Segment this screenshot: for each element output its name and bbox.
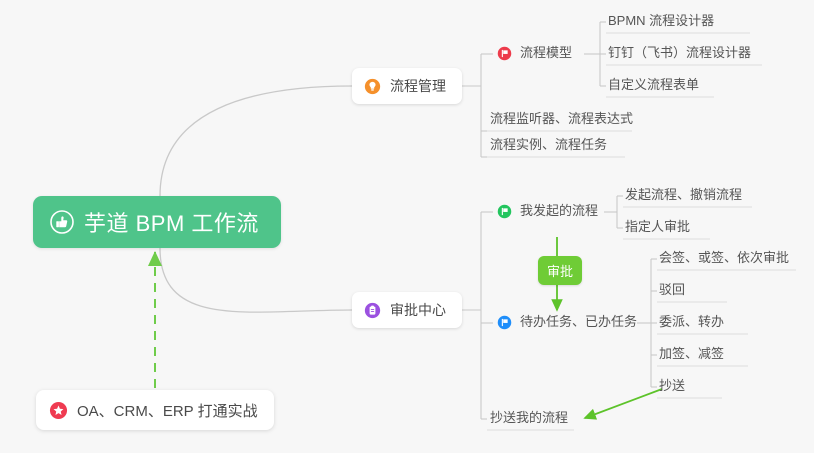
topic-bpmn-designer[interactable]: BPMN 流程设计器 [604,11,718,33]
topic-countersign[interactable]: 会签、或签、依次审批 [655,248,793,270]
topic-todo-done-tasks[interactable]: 待办任务、已办任务 [493,312,641,334]
flag-icon [497,204,512,219]
topic-label-dingtalk-designer: 钉钉（飞书）流程设计器 [608,45,751,60]
thumbs-up-icon [50,210,74,234]
flag-icon [497,46,512,61]
topic-assignee-approval[interactable]: 指定人审批 [621,217,694,239]
topic-process-listener[interactable]: 流程监听器、流程表达式 [486,109,637,131]
topic-label-delegate-transfer: 委派、转办 [659,314,724,329]
topic-label-assignee-approval: 指定人审批 [625,219,690,234]
topic-label-process-instance: 流程实例、流程任务 [490,137,607,152]
topic-reject[interactable]: 驳回 [655,280,689,302]
topic-add-remove-sign[interactable]: 加签、减签 [655,344,728,366]
branch-label-process-management: 流程管理 [390,76,446,96]
topic-label-carbon-copy: 抄送 [659,378,685,393]
mindmap-canvas: 芋道 BPM 工作流 流程管理 审批中心 [0,0,814,453]
topic-label-reject: 驳回 [659,282,685,297]
topic-label-add-remove-sign: 加签、减签 [659,346,724,361]
topic-my-started-process[interactable]: 我发起的流程 [493,201,602,223]
topic-launch-cancel[interactable]: 发起流程、撤销流程 [621,185,746,207]
note-card-integration[interactable]: OA、CRM、ERP 打通实战 [36,390,274,430]
topic-custom-form[interactable]: 自定义流程表单 [604,75,703,97]
star-icon [49,401,68,420]
lightbulb-icon [364,78,381,95]
topic-label-custom-form: 自定义流程表单 [608,77,699,92]
topic-label-launch-cancel: 发起流程、撤销流程 [625,187,742,202]
arrow-cc-to-cc-to-me [585,389,662,418]
topic-label-bpmn-designer: BPMN 流程设计器 [608,13,714,28]
connector-root-to-approval-center [160,248,352,312]
branch-node-approval-center[interactable]: 审批中心 [352,292,462,328]
connector-root-to-process-management [160,86,352,196]
topic-delegate-transfer[interactable]: 委派、转办 [655,312,728,334]
topic-label-todo-done-tasks: 待办任务、已办任务 [520,312,637,332]
branch-node-process-management[interactable]: 流程管理 [352,68,462,104]
topic-label-my-started-process: 我发起的流程 [520,201,598,221]
topic-process-model[interactable]: 流程模型 [493,43,576,65]
flag-icon [497,315,512,330]
topic-label-countersign: 会签、或签、依次审批 [659,250,789,265]
topic-label-process-model: 流程模型 [520,43,572,63]
branch-label-approval-center: 审批中心 [390,300,446,320]
clipboard-icon [364,302,381,319]
badge-approval-label: 审批 [547,264,573,279]
topic-dingtalk-designer[interactable]: 钉钉（飞书）流程设计器 [604,43,755,65]
topic-cc-to-me[interactable]: 抄送我的流程 [486,408,572,430]
root-label: 芋道 BPM 工作流 [84,206,259,238]
root-node[interactable]: 芋道 BPM 工作流 [33,196,281,248]
topic-label-process-listener: 流程监听器、流程表达式 [490,111,633,126]
topic-label-cc-to-me: 抄送我的流程 [490,410,568,425]
topic-process-instance[interactable]: 流程实例、流程任务 [486,135,611,157]
topic-carbon-copy[interactable]: 抄送 [655,376,689,398]
note-card-label: OA、CRM、ERP 打通实战 [77,400,258,421]
badge-approval[interactable]: 审批 [538,256,582,285]
